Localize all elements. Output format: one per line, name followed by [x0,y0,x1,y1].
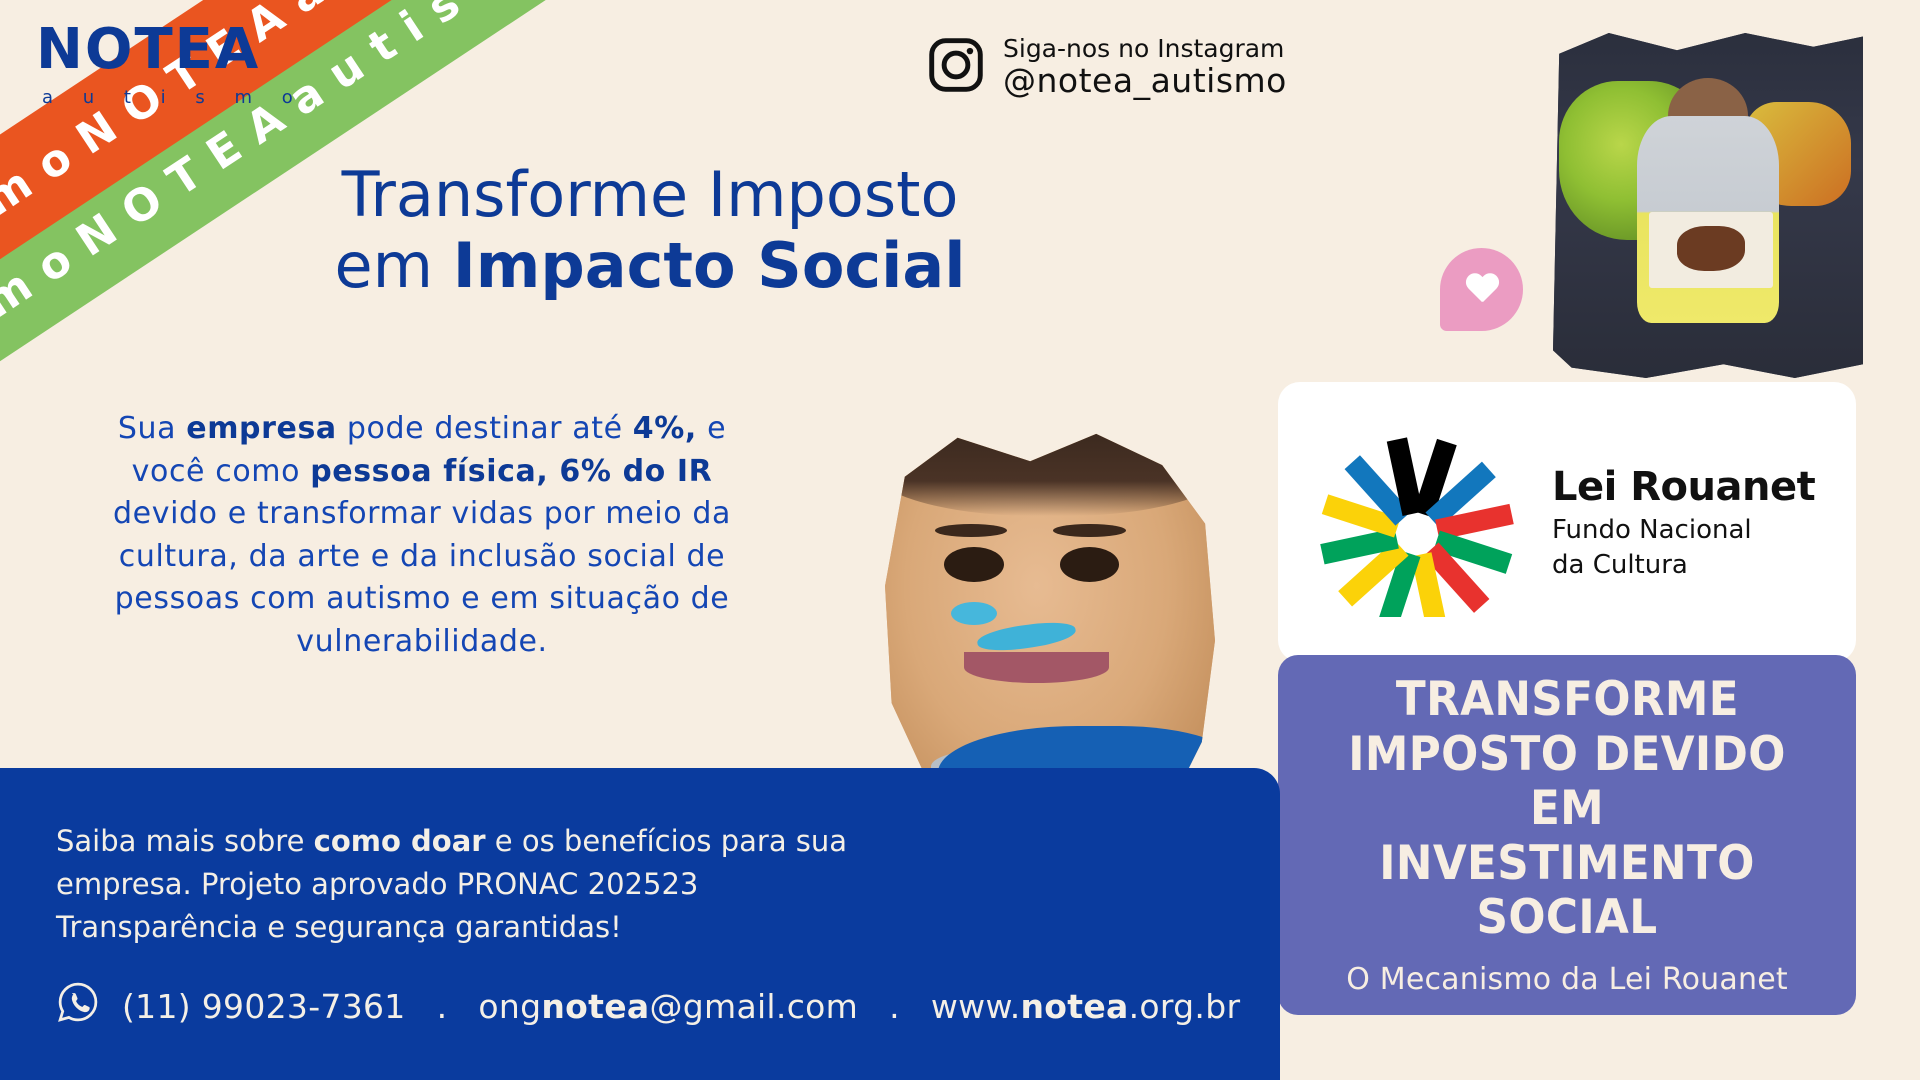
body-text-4: devido e transformar vidas por meio da c… [113,496,731,659]
headline-line2-bold: Impacto Social [453,229,966,302]
footer-text-1: Saiba mais sobre [56,824,314,858]
site-prefix: www. [931,987,1021,1026]
purple-card-line-1: TRANSFORME [1395,673,1738,728]
page-title: Transforme Imposto em Impacto Social [330,162,970,298]
lei-rouanet-subtitle-2: da Cultura [1552,550,1815,581]
contact-line: (11) 99023-7361 . ongnotea@gmail.com . w… [56,980,1240,1032]
headline-line2-prefix: em [334,229,452,302]
email-prefix: ong [478,987,541,1026]
instagram-follow-label: Siga-nos no Instagram [1003,35,1287,63]
phone-number[interactable]: (11) 99023-7361 [122,987,406,1026]
transforme-imposto-card: TRANSFORME IMPOSTO DEVIDO EM INVESTIMENT… [1278,655,1856,1015]
body-bold-empresa: empresa [186,411,337,446]
promotional-banner: N O T E A a u t i s m o N O T E A a u t … [0,0,1920,1080]
headline-line-1: Transforme Imposto [330,162,970,227]
body-bold-4pct: 4%, [633,411,697,446]
instagram-block[interactable]: Siga-nos no Instagram @notea_autismo [925,34,1287,100]
purple-card-line-3: INVESTIMENTO SOCIAL [1315,837,1819,946]
lei-rouanet-title: Lei Rouanet [1552,464,1815,511]
headline-line-2: em Impacto Social [330,233,970,298]
email-suffix: @gmail.com [649,987,858,1026]
footer-bold-como-doar: como doar [314,824,486,858]
site-bold: notea [1021,987,1129,1026]
heart-speech-bubble-icon [1440,248,1523,331]
child-holding-artwork-photo [1553,33,1863,378]
lei-rouanet-card: Lei Rouanet Fundo Nacional da Cultura [1278,382,1856,662]
body-text-2: pode destinar até [337,411,633,446]
body-bold-pessoa-fisica: pessoa física, [310,454,548,489]
contact-footer: Saiba mais sobre como doar e os benefíci… [0,768,1280,1080]
email-bold: notea [541,987,649,1026]
purple-card-line-2: IMPOSTO DEVIDO EM [1315,728,1819,837]
smiling-child-face-photo [885,430,1215,820]
separator-2: . [880,987,909,1026]
website-url[interactable]: www.notea.org.br [931,987,1240,1026]
email-address[interactable]: ongnotea@gmail.com [478,987,858,1026]
body-bold-6pct-ir: 6% do IR [548,454,712,489]
purple-card-subtitle: O Mecanismo da Lei Rouanet [1346,962,1788,997]
separator-1: . [428,987,457,1026]
body-text-1: Sua [118,411,186,446]
lei-rouanet-subtitle-1: Fundo Nacional [1552,515,1815,546]
logo-wordmark: NOTEA [36,22,305,78]
footer-description: Saiba mais sobre como doar e os benefíci… [56,820,876,949]
logo-tagline: a u t i s m o [42,87,305,108]
lei-rouanet-starburst-icon [1308,427,1526,617]
whatsapp-icon[interactable] [56,980,100,1032]
body-paragraph: Sua empresa pode destinar até 4%, e você… [112,408,732,664]
notea-logo: NOTEA a u t i s m o [36,22,305,108]
instagram-handle[interactable]: @notea_autismo [1003,63,1287,100]
instagram-icon [925,34,987,100]
site-suffix: .org.br [1129,987,1241,1026]
